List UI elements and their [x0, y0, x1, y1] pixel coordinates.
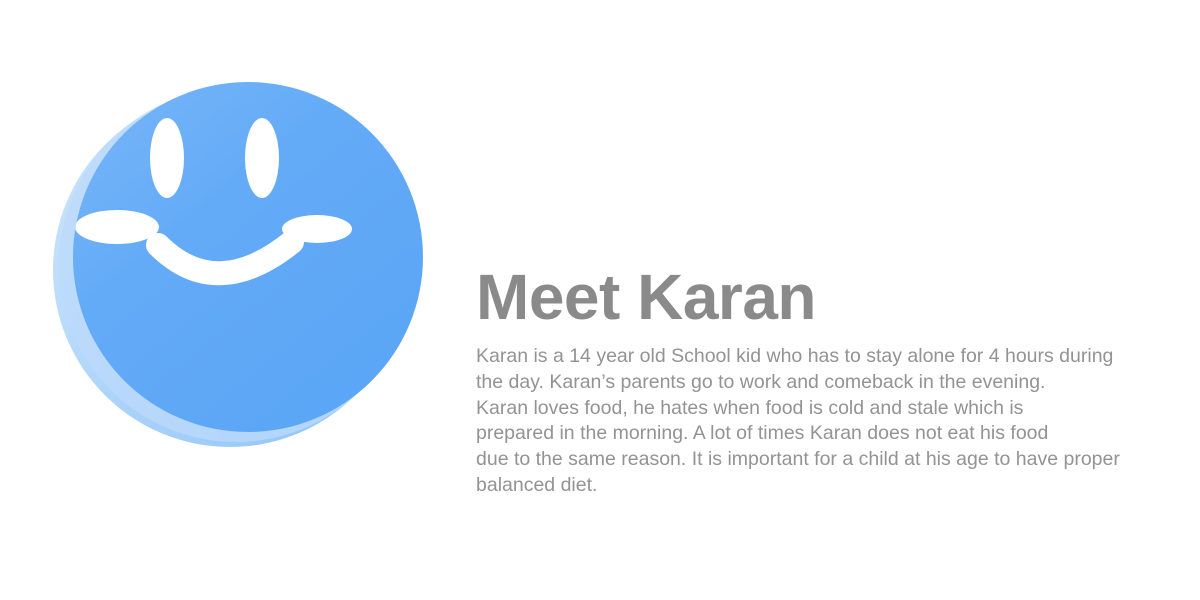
- description-line: prepared in the morning. A lot of times …: [476, 421, 1136, 447]
- description-paragraph: Karan is a 14 year old School kid who ha…: [476, 344, 1136, 499]
- left-eye-icon: [150, 118, 184, 198]
- description-line: Karan is a 14 year old School kid who ha…: [476, 344, 1136, 370]
- slide-canvas: Meet Karan Karan is a 14 year old School…: [0, 0, 1200, 600]
- text-block: Meet Karan Karan is a 14 year old School…: [476, 262, 1136, 499]
- description-line: Karan loves food, he hates when food is …: [476, 396, 1136, 422]
- smiley-face-avatar: [40, 60, 440, 460]
- description-line: the day. Karan’s parents go to work and …: [476, 370, 1136, 396]
- description-line: due to the same reason. It is important …: [476, 447, 1136, 473]
- description-line: balanced diet.: [476, 473, 1136, 499]
- right-eye-icon: [245, 118, 279, 198]
- left-cheek-blush-icon: [75, 210, 159, 244]
- page-title: Meet Karan: [476, 262, 1136, 332]
